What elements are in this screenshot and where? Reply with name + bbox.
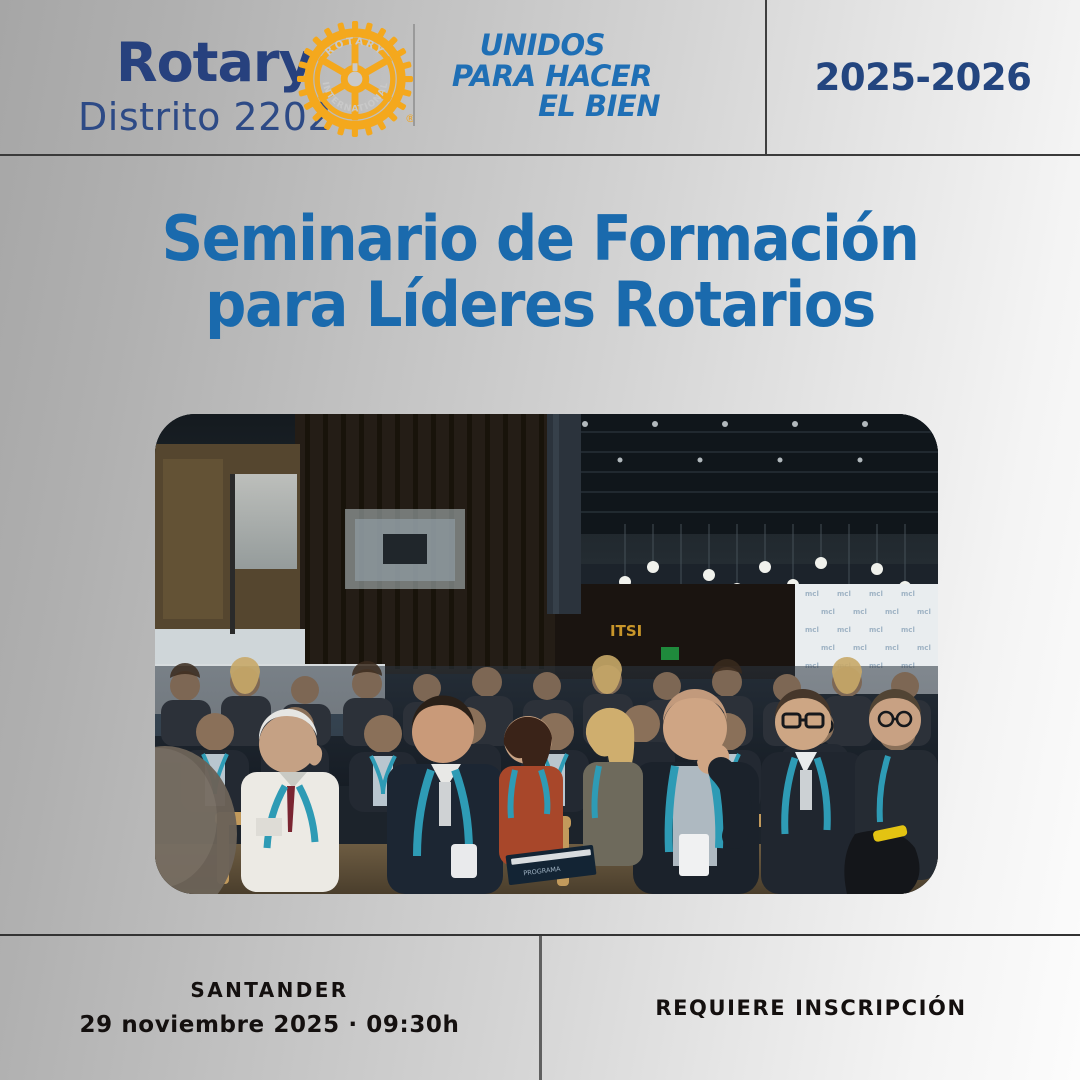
svg-text:mcl: mcl bbox=[805, 590, 819, 598]
svg-text:mcl: mcl bbox=[837, 626, 851, 634]
event-photo: ITSI mclmcl mclmcl mclmcl mclmcl mclmcl … bbox=[155, 414, 938, 894]
svg-text:ITSI: ITSI bbox=[610, 622, 642, 640]
svg-text:mcl: mcl bbox=[821, 608, 835, 616]
tagline-line-2: PARA HACER bbox=[430, 61, 660, 92]
svg-text:mcl: mcl bbox=[853, 608, 867, 616]
svg-text:mcl: mcl bbox=[853, 644, 867, 652]
svg-text:mcl: mcl bbox=[869, 626, 883, 634]
footer-location-block: SANTANDER 29 noviembre 2025 · 09:30h bbox=[0, 936, 539, 1080]
poster-header: Rotary Distrito 2202 bbox=[0, 0, 1080, 156]
footer-date-time: 29 noviembre 2025 · 09:30h bbox=[80, 1012, 460, 1038]
footer-registration-block: REQUIERE INSCRIPCIÓN bbox=[542, 936, 1080, 1080]
svg-text:mcl: mcl bbox=[885, 608, 899, 616]
event-photo-illustration: ITSI mclmcl mclmcl mclmcl mclmcl mclmcl … bbox=[155, 414, 938, 894]
svg-text:mcl: mcl bbox=[917, 608, 931, 616]
svg-text:mcl: mcl bbox=[901, 590, 915, 598]
tagline-line-3: EL BIEN bbox=[430, 91, 660, 122]
poster-title: Seminario de Formación para Líderes Rota… bbox=[38, 206, 1042, 339]
header-bottom-divider bbox=[0, 154, 1080, 156]
svg-text:mcl: mcl bbox=[837, 590, 851, 598]
svg-text:mcl: mcl bbox=[917, 644, 931, 652]
title-line-1: Seminario de Formación bbox=[38, 206, 1042, 272]
rotary-district-label: Distrito 2202 bbox=[78, 98, 332, 136]
poster-footer: SANTANDER 29 noviembre 2025 · 09:30h REQ… bbox=[0, 934, 1080, 1080]
svg-text:mcl: mcl bbox=[901, 626, 915, 634]
footer-city: SANTANDER bbox=[190, 978, 348, 1002]
rotary-wordmark: Rotary bbox=[116, 36, 313, 90]
svg-text:mcl: mcl bbox=[821, 644, 835, 652]
rotary-year-badge: 2025-2026 bbox=[766, 0, 1080, 154]
rotary-tagline: UNIDOS PARA HACER EL BIEN bbox=[430, 30, 660, 122]
svg-text:mcl: mcl bbox=[869, 590, 883, 598]
lockup-separator bbox=[413, 24, 415, 126]
svg-text:mcl: mcl bbox=[805, 626, 819, 634]
footer-registration-note: REQUIERE INSCRIPCIÓN bbox=[655, 996, 966, 1020]
poster-canvas: Rotary Distrito 2202 bbox=[0, 0, 1080, 1080]
rotary-brand-lockup: Rotary Distrito 2202 bbox=[78, 18, 408, 142]
tagline-line-1: UNIDOS bbox=[430, 30, 660, 61]
rotary-wheel-icon: ROTARY INTERNATIONAL bbox=[296, 20, 414, 138]
svg-text:mcl: mcl bbox=[885, 644, 899, 652]
title-line-2: para Líderes Rotarios bbox=[38, 272, 1042, 338]
